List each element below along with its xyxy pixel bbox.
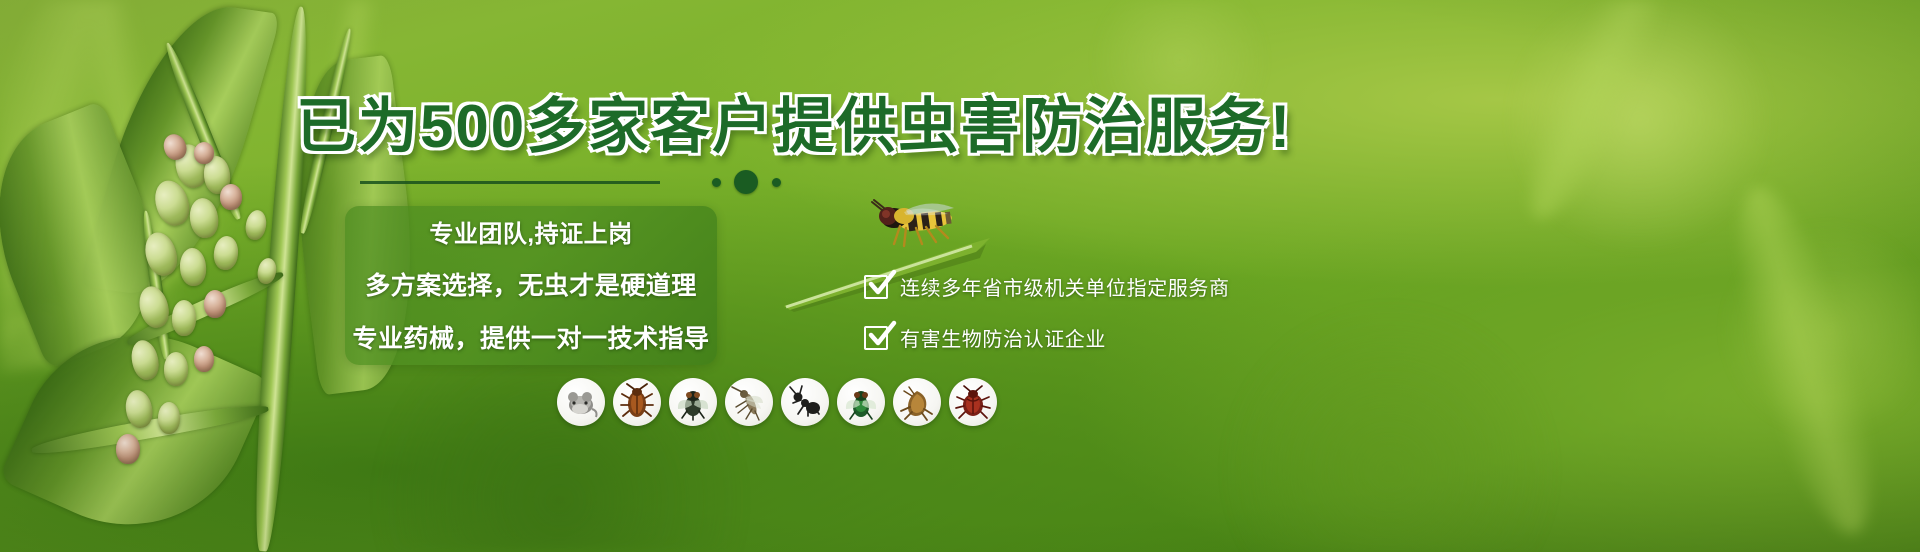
slogan-line-1: 专业团队,持证上岗 — [429, 214, 632, 249]
pest-icon-row — [557, 378, 997, 426]
divider-line — [360, 181, 660, 184]
fly-icon[interactable] — [669, 378, 717, 426]
divider-dot-large — [734, 170, 758, 194]
mosquito-icon[interactable] — [725, 378, 773, 426]
pest-control-banner: 已为500多家客户提供虫害防治服务! 专业团队,持证上岗 多方案选择，无虫才是硬… — [0, 0, 1920, 552]
mouse-icon[interactable] — [557, 378, 605, 426]
divider-dot-small-left — [712, 178, 721, 187]
checkbox-checked-icon — [864, 326, 888, 350]
divider-dot-small-right — [772, 178, 781, 187]
slogan-line-3: 专业药械，提供一对一技术指导 — [353, 319, 710, 355]
page-title: 已为500多家客户提供虫害防治服务! — [296, 78, 1296, 165]
feature-label: 有害生物防治认证企业 — [900, 323, 1106, 352]
flea-icon[interactable] — [893, 378, 941, 426]
checkbox-checked-icon — [864, 275, 888, 299]
cockroach-icon[interactable] — [613, 378, 661, 426]
blowfly-icon[interactable] — [837, 378, 885, 426]
slogan-line-2: 多方案选择，无虫才是硬道理 — [365, 266, 697, 302]
slogan-panel: 专业团队,持证上岗 多方案选择，无虫才是硬道理 专业药械，提供一对一技术指导 — [345, 206, 717, 365]
decorative-divider — [360, 170, 820, 196]
feature-item: 有害生物防治认证企业 — [864, 323, 1294, 352]
feature-label: 连续多年省市级机关单位指定服务商 — [900, 272, 1230, 301]
feature-list: 连续多年省市级机关单位指定服务商 有害生物防治认证企业 — [864, 272, 1294, 374]
ant-icon[interactable] — [781, 378, 829, 426]
bedbug-icon[interactable] — [949, 378, 997, 426]
feature-item: 连续多年省市级机关单位指定服务商 — [864, 272, 1294, 301]
hoverfly-photo — [860, 196, 960, 258]
